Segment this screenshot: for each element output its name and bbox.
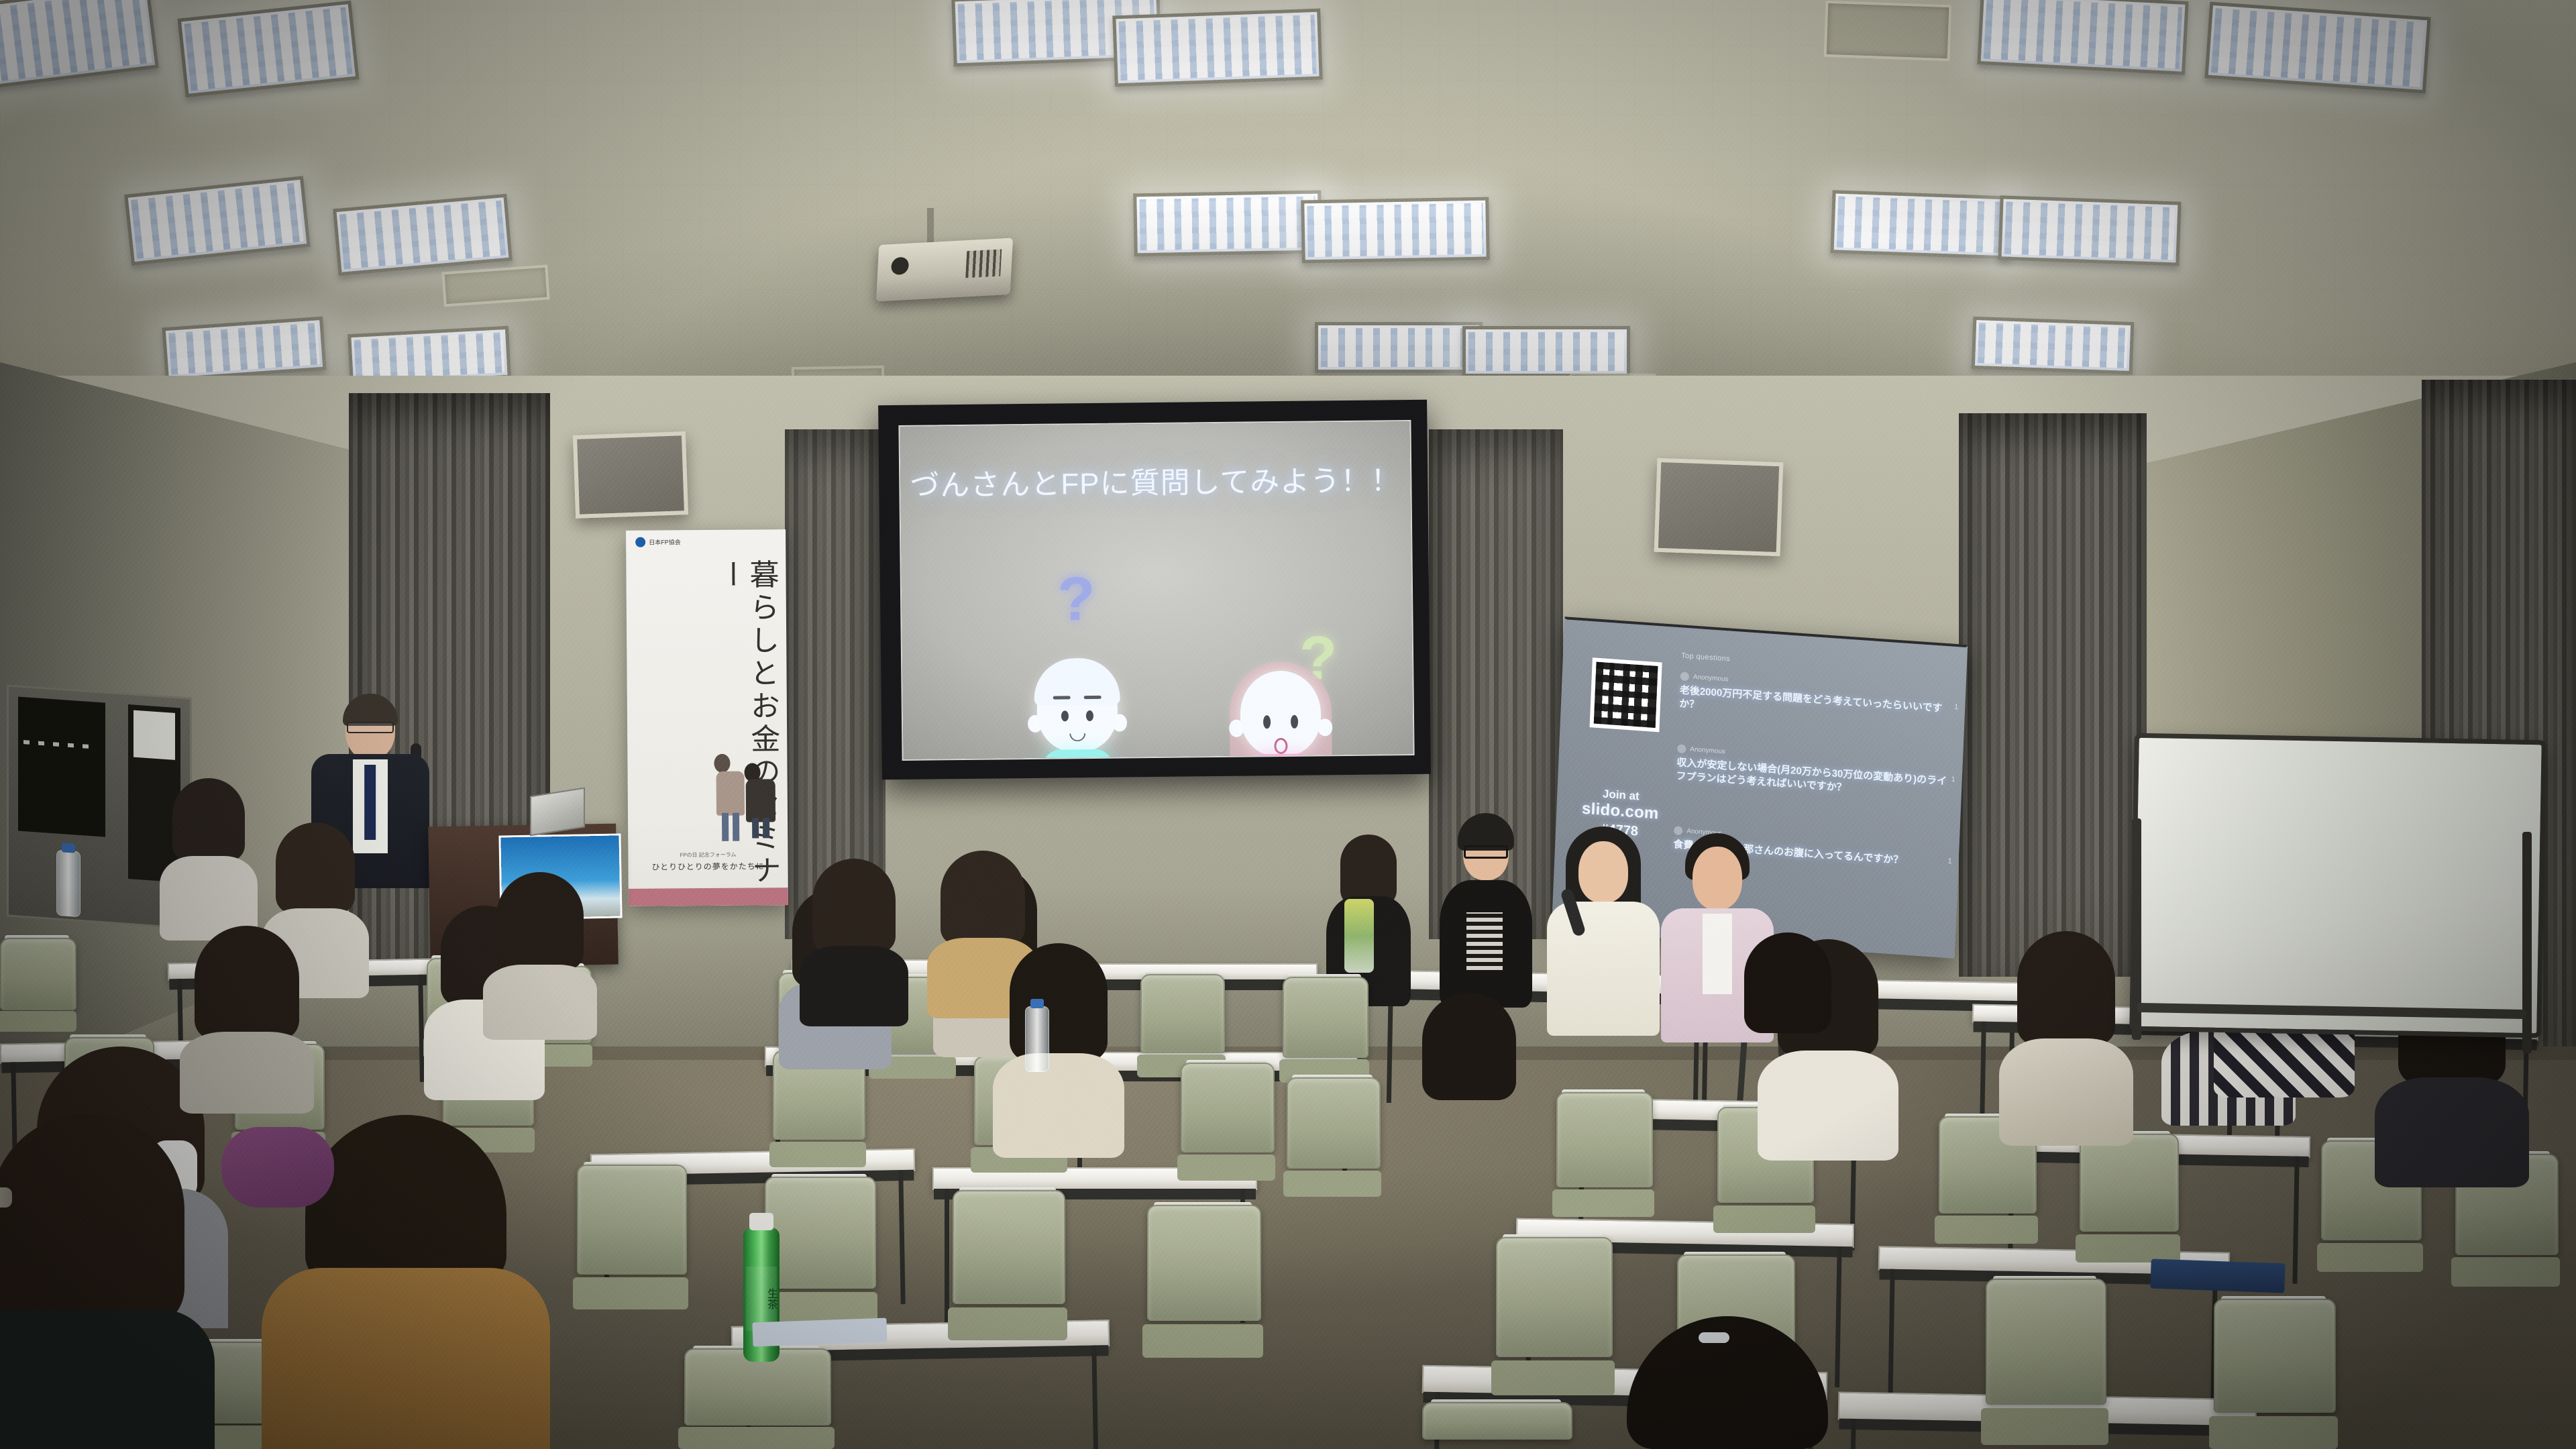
slide-boy-character [1030, 665, 1126, 760]
slido-question-item: Anonymous 収入が安定しない場合(月20万から30万位の変動あり)のライ… [1676, 744, 1948, 802]
audience-member [1597, 1316, 1858, 1449]
chair[interactable] [1181, 1063, 1272, 1181]
hair [1010, 943, 1108, 1061]
panelist-scarf [1344, 899, 1374, 973]
fp-association-logo: 日本FP協会 [635, 537, 681, 547]
chair[interactable] [2080, 1134, 2176, 1263]
seminar-banner: 日本FP協会 暮らしとお金のセミナー FPの日 記念フォーラム ひとりひとりの夢… [626, 529, 788, 906]
chair[interactable] [1147, 1205, 1258, 1358]
top-questions-label: Top questions [1681, 651, 1730, 663]
hair-clip-icon [1699, 1332, 1729, 1343]
question-author: Anonymous [1690, 746, 1725, 756]
logo-mark-icon [635, 537, 645, 547]
chair[interactable] [1422, 1402, 1570, 1449]
audience-member [993, 943, 1124, 1158]
hair [276, 822, 355, 914]
bottle-cap [1030, 999, 1044, 1008]
clothing [2375, 1077, 2529, 1187]
audience-member [483, 872, 597, 1040]
ceiling-projector [876, 238, 1013, 302]
clothing [0, 1309, 215, 1449]
clothing [483, 965, 597, 1040]
hair-tie-icon [0, 1187, 12, 1207]
hair [305, 1115, 506, 1283]
chair[interactable] [1986, 1279, 2104, 1445]
panelist-shirt [1703, 914, 1732, 994]
handout-paper[interactable] [2150, 1259, 2285, 1293]
banner-footer-band [629, 888, 788, 906]
projector-lens-icon [891, 257, 909, 275]
upvote-count[interactable]: 1 [1947, 857, 1952, 865]
chair[interactable] [765, 1177, 873, 1324]
hair [172, 778, 245, 861]
chair[interactable] [1283, 977, 1366, 1083]
panelist-head [1693, 847, 1742, 910]
clothing [1999, 1038, 2133, 1146]
ceiling [0, 0, 2576, 429]
audience-member [1999, 931, 2133, 1146]
clothing [262, 1268, 550, 1449]
seminar-room-photo: づんさんとFPに質問してみよう！！ ? ? [0, 0, 2576, 1449]
projection-surface: づんさんとFPに質問してみよう！！ ? ? [898, 420, 1414, 761]
upvote-count[interactable]: 1 [1951, 775, 1955, 784]
hair [1744, 932, 1831, 1033]
whiteboard[interactable] [2129, 733, 2546, 1038]
qr-code-icon[interactable] [1590, 657, 1662, 732]
chair[interactable] [1287, 1077, 1378, 1197]
whiteboard-leg [2522, 832, 2532, 1053]
hair [941, 851, 1025, 945]
audience-member [180, 926, 314, 1114]
banner-illustration [713, 740, 778, 841]
panelist-glasses-icon [1464, 845, 1508, 859]
presenter-hair [343, 694, 398, 726]
panelist-sweater [1547, 902, 1660, 1036]
avatar [1680, 672, 1690, 681]
wall-speaker-right [1654, 458, 1784, 556]
clothing [800, 946, 908, 1026]
knit-bag [221, 1127, 334, 1207]
chair[interactable] [577, 1165, 684, 1309]
avatar [1677, 744, 1686, 753]
wall-speaker-left [573, 431, 688, 519]
audience-member [158, 778, 259, 939]
handout-paper[interactable] [752, 1318, 887, 1347]
hair [1422, 993, 1516, 1100]
rack-notice-paper [133, 710, 175, 760]
chair[interactable] [684, 1348, 828, 1449]
presenter-glasses-icon [347, 722, 394, 733]
projector-vents [965, 249, 1002, 278]
org-name: 日本FP協会 [649, 537, 681, 546]
banner-tagline: ひとりひとりの夢をかたちに [628, 860, 788, 873]
bottle-cap [749, 1213, 773, 1230]
panelist-2 [1436, 813, 1536, 1008]
ceiling-shading [0, 0, 2576, 429]
audience-member [1731, 932, 1845, 1053]
hair [2017, 931, 2115, 1045]
projector-mount [927, 208, 934, 246]
panelist-3-speaking [1543, 826, 1664, 1034]
clothing [180, 1032, 314, 1114]
rack-panel [18, 697, 105, 837]
question-mark-blue-icon: ? [1057, 564, 1095, 635]
slide-title: づんさんとFPに質問してみよう！！ [900, 456, 1411, 504]
chair[interactable] [1556, 1092, 1650, 1217]
audience-member [798, 859, 909, 1026]
upvote-count[interactable]: 1 [1954, 703, 1959, 711]
bottle-cap [62, 843, 75, 853]
hair [195, 926, 299, 1040]
chair[interactable] [1496, 1237, 1610, 1395]
main-projection-screen: づんさんとFPに質問してみよう！！ ? ? [878, 400, 1431, 780]
hair [496, 872, 584, 970]
slido-question-item: Anonymous 老後2000万円不足する問題をどう考えていったらいいですか？… [1679, 672, 1951, 729]
chair[interactable] [0, 938, 74, 1032]
audience-member [1409, 993, 1529, 1154]
panelist-graphic-print [1466, 912, 1503, 970]
audience-member [0, 1114, 215, 1449]
water-bottle[interactable] [1025, 1006, 1049, 1072]
clothing [993, 1053, 1124, 1158]
hair [0, 1114, 184, 1328]
clothing [1758, 1051, 1898, 1161]
banner-subtitle: FPの日 記念フォーラム [628, 851, 788, 859]
hair [812, 859, 896, 953]
chair[interactable] [953, 1190, 1063, 1340]
question-author: Anonymous [1693, 674, 1729, 684]
panelist-head [1578, 841, 1628, 903]
slide-girl-character [1230, 670, 1332, 761]
chair[interactable] [2214, 1299, 2333, 1449]
